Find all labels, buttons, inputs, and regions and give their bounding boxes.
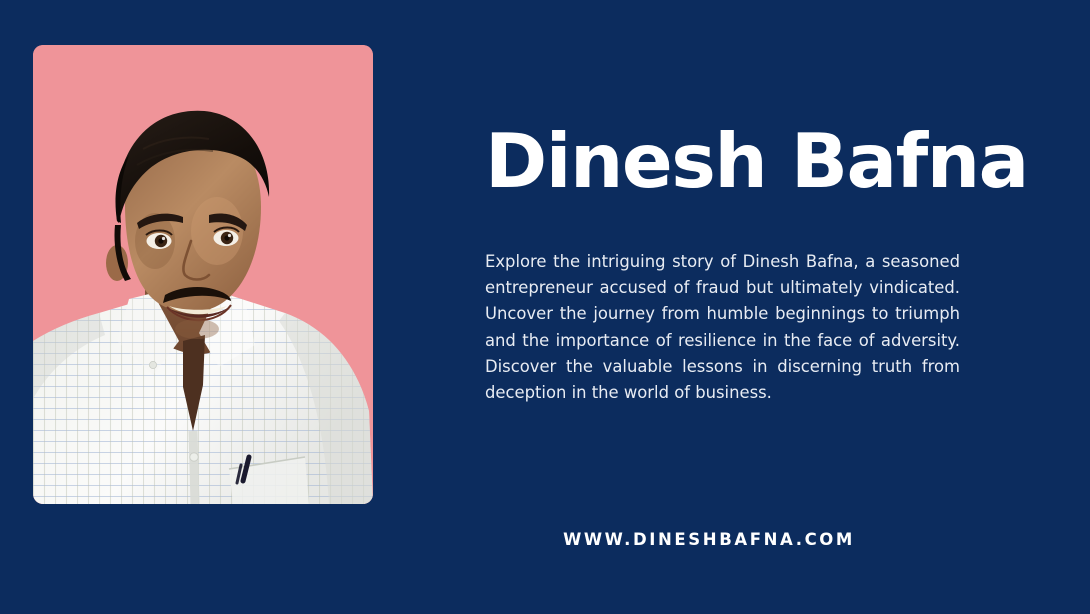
portrait-photo-dinesh-bafna: [33, 45, 373, 504]
portrait-card: [33, 45, 373, 504]
presentation-slide: Dinesh Bafna Explore the intriguing stor…: [0, 0, 1090, 614]
text-column: Dinesh Bafna Explore the intriguing stor…: [485, 0, 960, 614]
page-title: Dinesh Bafna: [485, 124, 1045, 199]
website-url: WWW.DINESHBAFNA.COM: [485, 530, 933, 549]
description-paragraph: Explore the intriguing story of Dinesh B…: [485, 249, 960, 406]
